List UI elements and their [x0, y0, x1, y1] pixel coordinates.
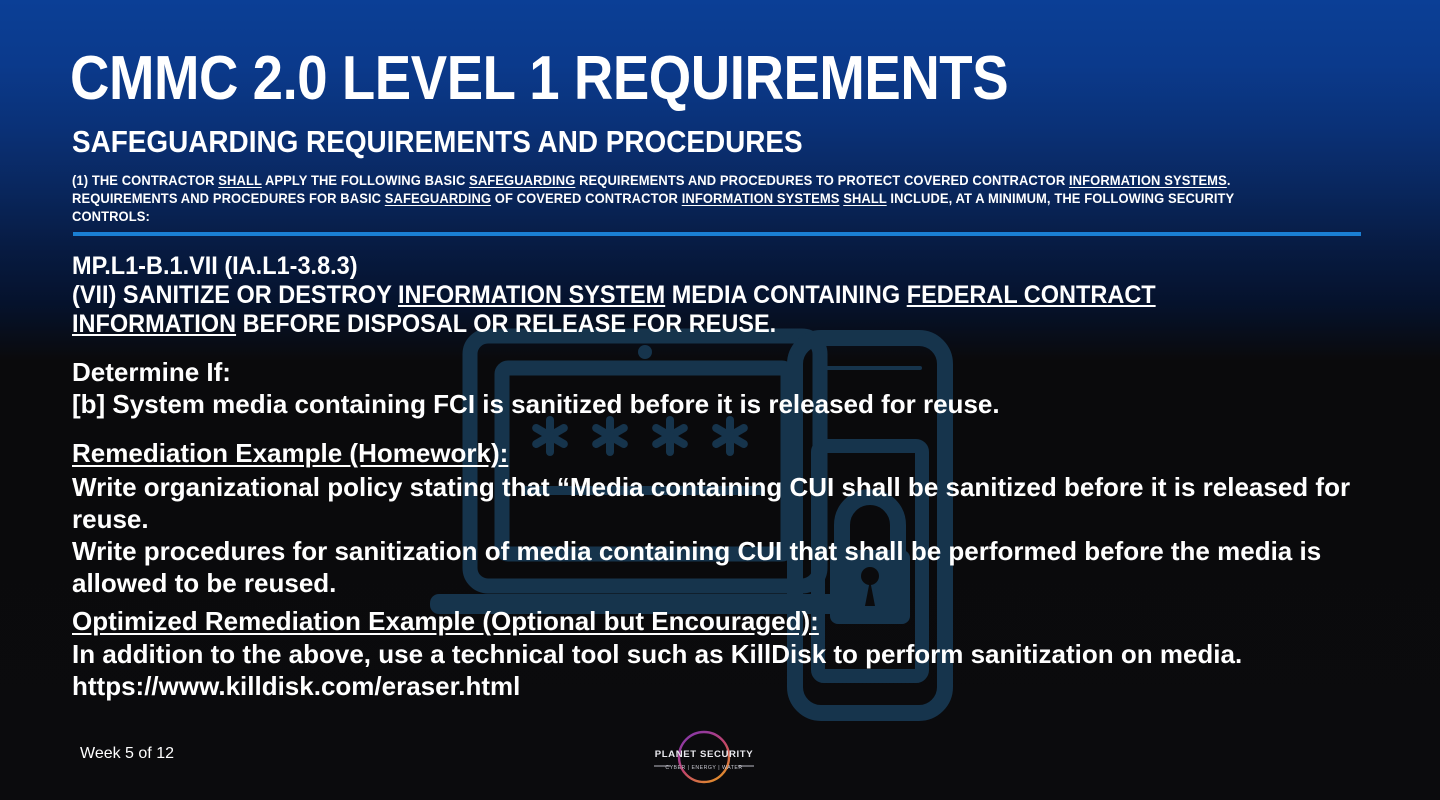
intro-text-segment: OF COVERED CONTRACTOR: [491, 191, 682, 206]
remediation-body: Write organizational policy stating that…: [72, 472, 1372, 600]
determine-if-item: [b] System media containing FCI is sanit…: [72, 389, 1362, 420]
control-text-segment: MEDIA CONTAINING: [665, 281, 907, 309]
intro-underlined-shall-2: SHALL: [843, 191, 886, 206]
page-subtitle: SAFEGUARDING REQUIREMENTS AND PROCEDURES: [72, 124, 803, 160]
intro-text-segment: (1) THE CONTRACTOR: [72, 173, 218, 188]
intro-underlined-information-systems-2: INFORMATION SYSTEMS: [682, 191, 840, 206]
intro-underlined-safeguarding-2: SAFEGUARDING: [385, 191, 491, 206]
intro-underlined-shall-1: SHALL: [218, 173, 261, 188]
control-underlined-information-system: INFORMATION SYSTEM: [398, 281, 665, 309]
optimized-remediation-body: In addition to the above, use a technica…: [72, 639, 1372, 703]
planet-security-logo: PLANET SECURITY CYBER | ENERGY | WATER: [648, 726, 760, 788]
intro-paragraph: (1) THE CONTRACTOR SHALL APPLY THE FOLLO…: [72, 172, 1315, 225]
intro-underlined-safeguarding-1: SAFEGUARDING: [469, 173, 575, 188]
week-indicator: Week 5 of 12: [80, 745, 174, 763]
page-title: CMMC 2.0 LEVEL 1 REQUIREMENTS: [70, 47, 1008, 110]
remediation-line-1: Write organizational policy stating that…: [72, 472, 1372, 536]
intro-text-segment: APPLY THE FOLLOWING BASIC: [262, 173, 469, 188]
section-divider: [73, 232, 1361, 236]
intro-underlined-information-systems-1: INFORMATION SYSTEMS: [1069, 173, 1227, 188]
control-text-segment: (VII) SANITIZE OR DESTROY: [72, 281, 398, 309]
control-statement: (VII) SANITIZE OR DESTROY INFORMATION SY…: [72, 281, 1228, 339]
slide-content: CMMC 2.0 LEVEL 1 REQUIREMENTS SAFEGUARDI…: [0, 0, 1440, 800]
remediation-heading: Remediation Example (Homework):: [72, 438, 508, 469]
determine-if-heading: Determine If:: [72, 357, 231, 388]
logo-wordmark: PLANET SECURITY: [655, 749, 754, 760]
optimized-remediation-heading: Optimized Remediation Example (Optional …: [72, 606, 819, 637]
intro-text-segment: REQUIREMENTS AND PROCEDURES TO PROTECT C…: [575, 173, 1069, 188]
control-text-segment: BEFORE DISPOSAL OR RELEASE FOR REUSE.: [236, 310, 776, 338]
logo-tagline: CYBER | ENERGY | WATER: [665, 765, 742, 771]
control-identifier: MP.L1-B.1.VII (IA.L1-3.8.3): [72, 252, 358, 281]
remediation-line-2: Write procedures for sanitization of med…: [72, 536, 1372, 600]
slide-root: CMMC 2.0 LEVEL 1 REQUIREMENTS SAFEGUARDI…: [0, 0, 1440, 800]
